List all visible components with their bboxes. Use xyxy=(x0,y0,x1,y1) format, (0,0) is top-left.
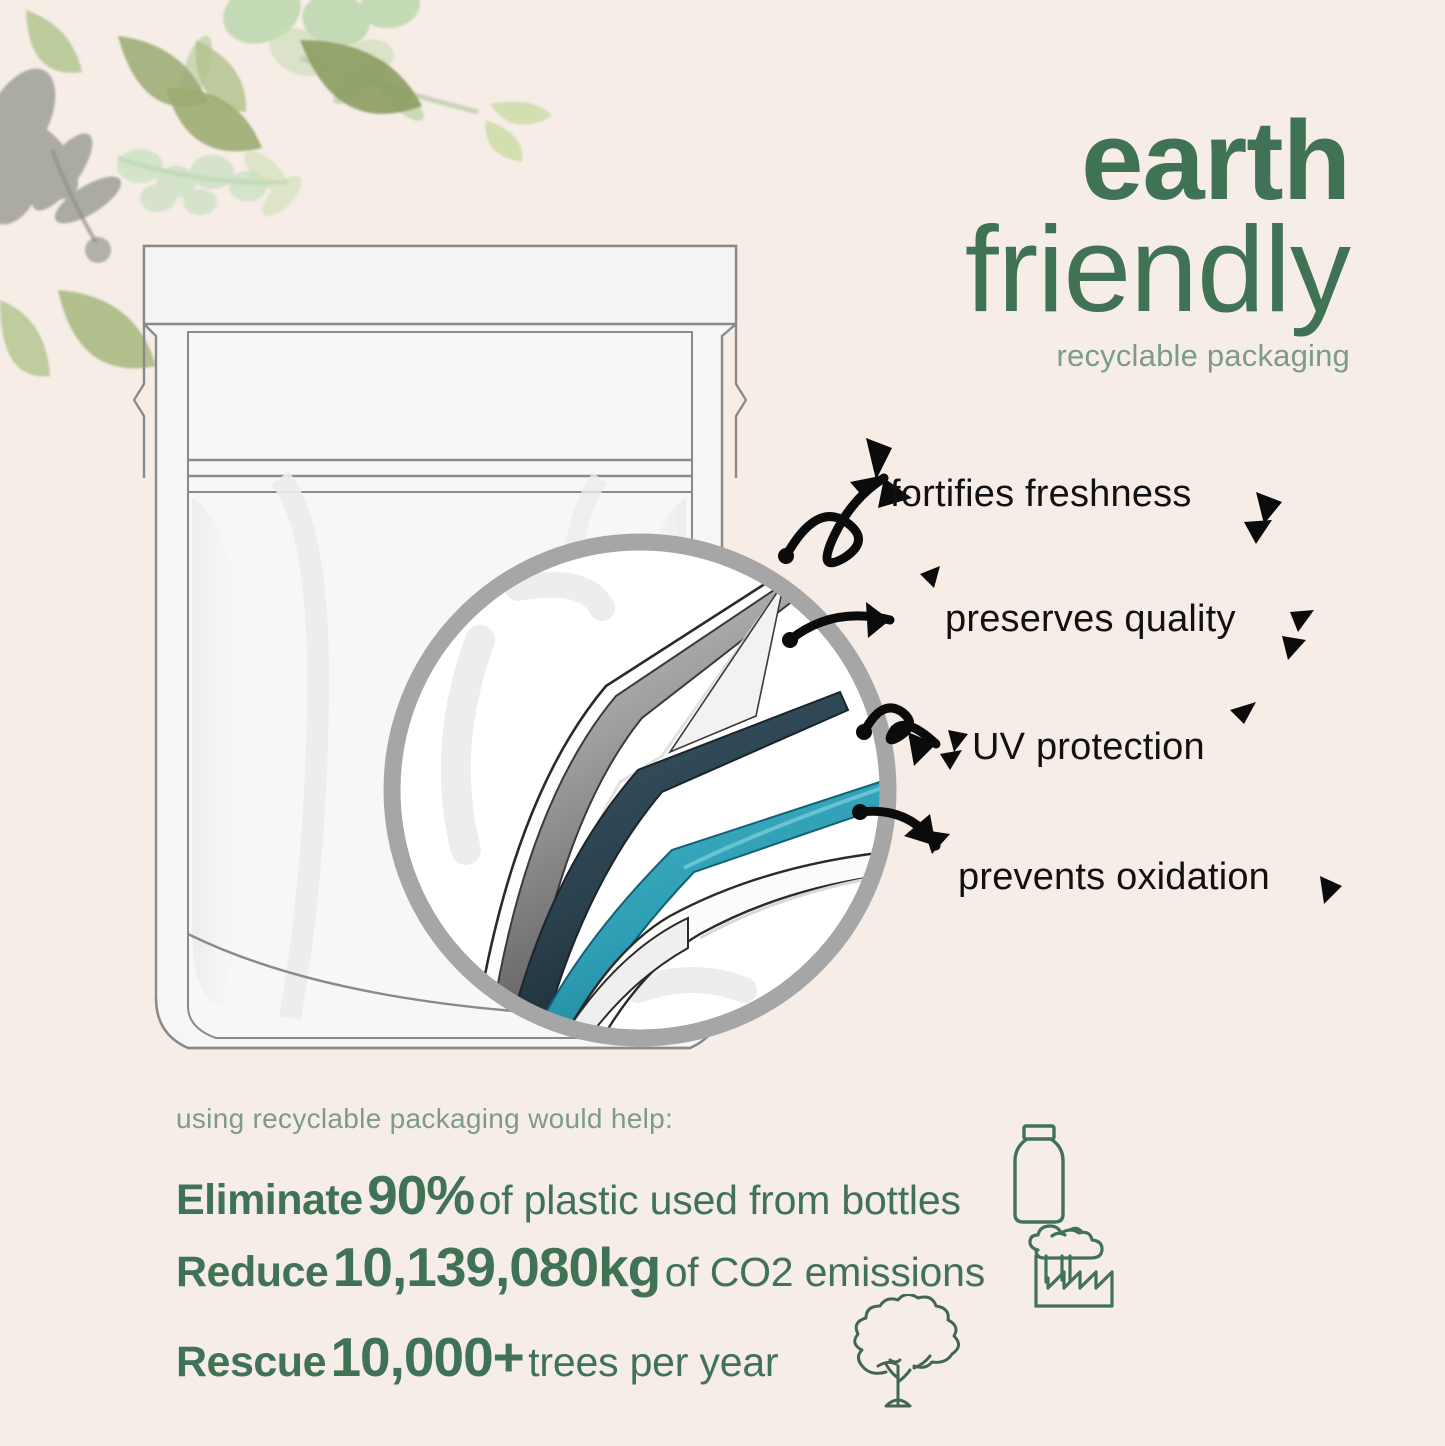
stat-rest: of plastic used from bottles xyxy=(479,1177,961,1223)
poster-canvas: earth friendly recyclable packaging fort… xyxy=(0,0,1445,1446)
headline-block: earth friendly recyclable packaging xyxy=(730,108,1350,374)
magnified-film-cross-section xyxy=(370,520,910,1060)
stat-rest: trees per year xyxy=(528,1339,778,1385)
stat-rest: of CO2 emissions xyxy=(665,1249,985,1295)
headline-line-1: earth xyxy=(730,108,1350,213)
headline-subtitle: recyclable packaging xyxy=(730,338,1350,374)
feature-label-preserves-quality: preserves quality xyxy=(945,598,1236,641)
factory-icon xyxy=(1022,1216,1118,1308)
stat-row-eliminate: Eliminate 90% of plastic used from bottl… xyxy=(176,1168,961,1223)
feature-label-prevents-oxidation: prevents oxidation xyxy=(958,856,1270,899)
stats-lead-in: using recyclable packaging would help: xyxy=(176,1103,673,1135)
feature-label-fortifies-freshness: fortifies freshness xyxy=(890,473,1192,516)
stat-verb: Eliminate xyxy=(176,1176,363,1224)
headline-line-2: friendly xyxy=(730,211,1350,328)
stat-number: 90% xyxy=(367,1164,474,1226)
stat-row-reduce: Reduce 10,139,080kg of CO2 emissions xyxy=(176,1240,985,1295)
stat-number: 10,000+ xyxy=(330,1326,523,1388)
tree-icon xyxy=(828,1294,968,1416)
bottle-icon xyxy=(1000,1122,1078,1226)
stat-number: 10,139,080kg xyxy=(333,1236,660,1298)
stat-row-rescue: Rescue 10,000+ trees per year xyxy=(176,1330,778,1385)
stat-verb: Rescue xyxy=(176,1338,326,1386)
stat-verb: Reduce xyxy=(176,1248,328,1296)
feature-label-uv-protection: UV protection xyxy=(972,726,1205,769)
